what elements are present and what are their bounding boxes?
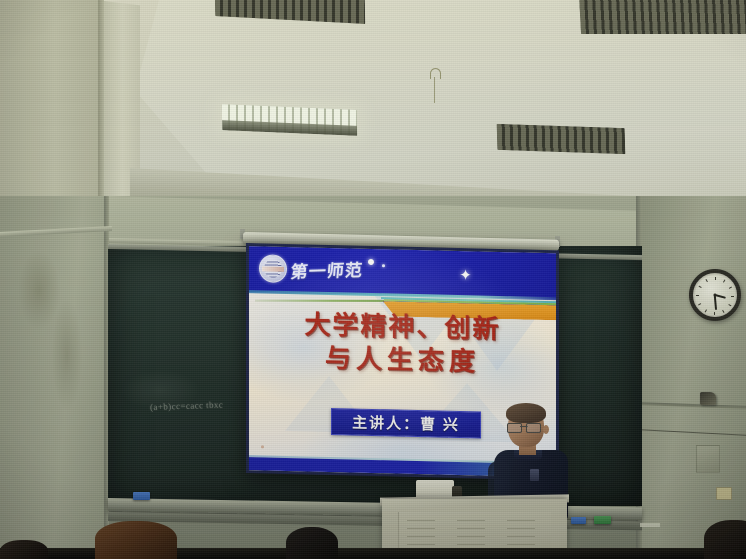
clock-face — [695, 275, 735, 315]
louver-grid — [497, 124, 626, 154]
slide-logo-text: 第一师范 — [290, 256, 365, 282]
audience-head — [0, 540, 48, 559]
wall-mounted-bracket — [700, 392, 716, 405]
analog-wall-clock — [689, 269, 741, 321]
wall-plate — [696, 445, 720, 473]
ceiling-hook-icon — [430, 68, 441, 79]
clock-center-pin — [714, 294, 717, 297]
photo-scene: (a+b)cc=cacc tbxc 第一师范 ✦ — [0, 0, 746, 559]
wall-stain — [52, 300, 82, 410]
wall-outlet-icon[interactable] — [716, 487, 732, 500]
wall-right-pillar — [640, 196, 746, 559]
chalk-eraser[interactable] — [571, 517, 586, 524]
eyeglasses-icon — [507, 423, 541, 431]
slide-header-dot — [382, 264, 385, 267]
audience-head — [95, 521, 177, 559]
wall-stain — [18, 250, 60, 330]
louver-grid — [579, 0, 746, 34]
clock-minute-hand — [714, 295, 717, 310]
chalk-eraser[interactable] — [594, 516, 611, 524]
audience-head — [704, 520, 746, 559]
slide-accent-line-green — [255, 300, 385, 302]
slide-speaker-label: 主讲人：曹 兴 — [352, 412, 460, 436]
audience-head — [286, 527, 338, 559]
sparkle-icon: ✦ — [459, 269, 472, 282]
lecturer-ear — [543, 425, 549, 434]
chalk-stick[interactable] — [640, 523, 660, 527]
glasses-lens — [507, 423, 522, 433]
slide-decor-dot — [261, 445, 264, 448]
university-seal-icon — [259, 254, 287, 283]
slide-header-dot — [368, 259, 374, 265]
slide-title: 大学精神、创新 与人生态度 — [249, 308, 556, 381]
lecturer-badge — [530, 469, 539, 481]
glasses-lens — [526, 423, 541, 433]
ceiling-light-top-right — [579, 0, 746, 34]
lecturer-hair — [506, 403, 546, 423]
seal-band — [262, 266, 284, 272]
chalk-eraser[interactable] — [133, 492, 150, 500]
ceiling-wire — [434, 77, 435, 103]
slide-speaker-banner: 主讲人：曹 兴 — [331, 408, 481, 439]
ceiling-light-right — [497, 124, 626, 154]
